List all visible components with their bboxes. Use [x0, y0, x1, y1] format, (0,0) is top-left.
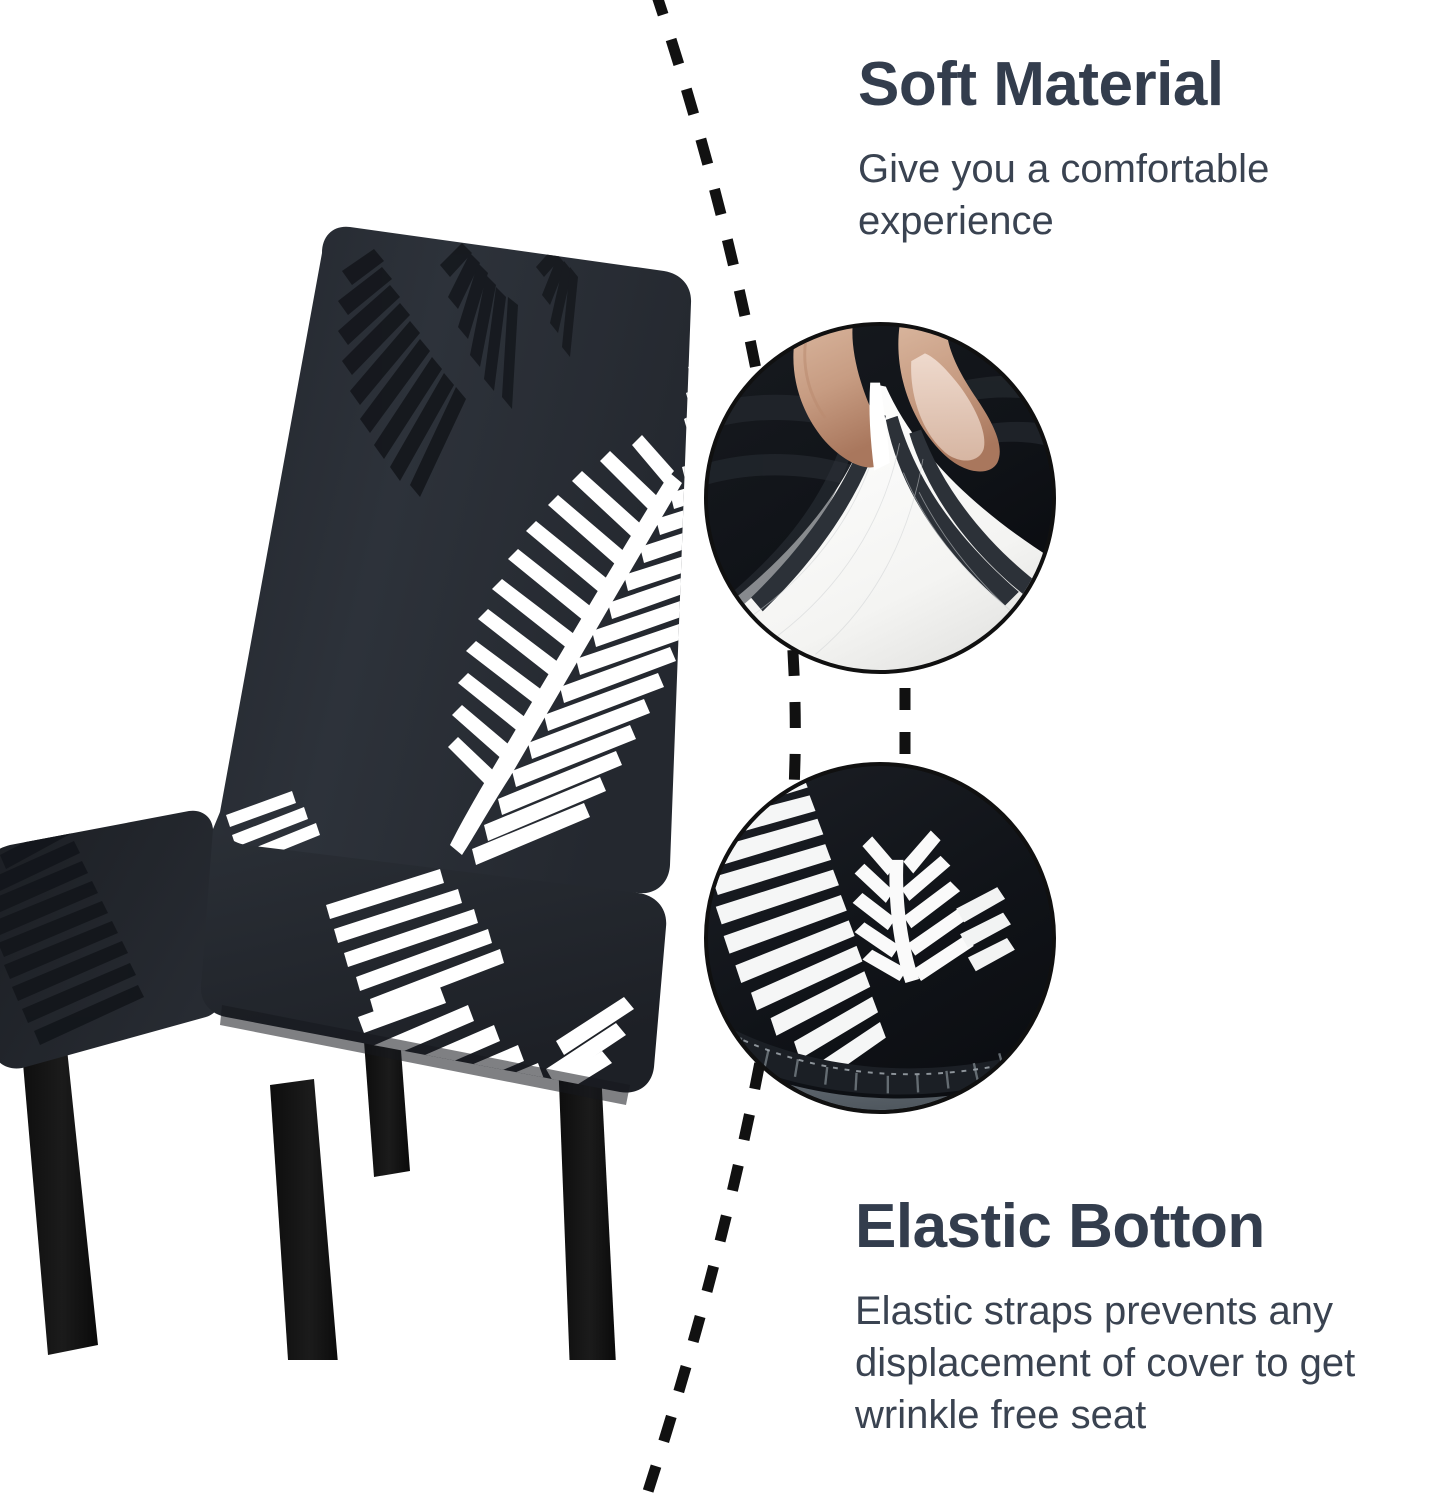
elastic-botton-body: Elastic straps prevents any displacement… — [855, 1285, 1430, 1441]
callout-circle-elastic-hem — [704, 762, 1056, 1114]
feature-block-elastic-botton: Elastic Botton Elastic straps prevents a… — [855, 1194, 1430, 1441]
callout-circle-fabric-pinch — [704, 322, 1056, 674]
soft-material-body: Give you a comfortable experience — [858, 143, 1378, 247]
infographic-canvas: Soft Material Give you a comfortable exp… — [0, 0, 1431, 1500]
product-chair-image — [0, 205, 750, 1360]
soft-material-headline: Soft Material — [858, 52, 1378, 117]
elastic-botton-headline: Elastic Botton — [855, 1194, 1430, 1259]
feature-block-soft-material: Soft Material Give you a comfortable exp… — [858, 52, 1378, 247]
